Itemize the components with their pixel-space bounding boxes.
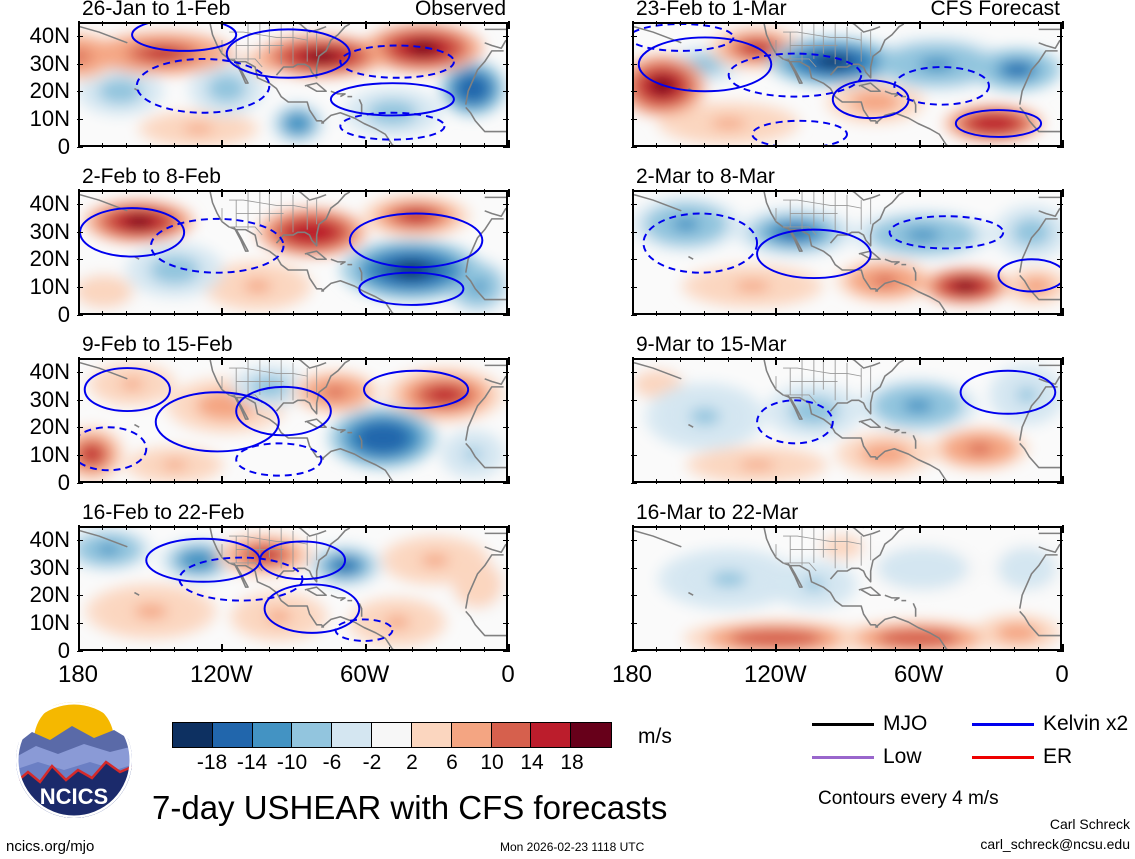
colorbar-segment [492,723,532,747]
x-tick-top [460,21,461,26]
x-tick [293,311,294,316]
x-tick-top [197,189,198,194]
x-tick [269,311,270,316]
x-tick-top [632,189,634,197]
y-tick [77,232,83,233]
x-tick-top [436,525,437,530]
x-tick [245,311,246,316]
x-tick [365,476,367,484]
x-tick [436,143,437,148]
x-tick [751,479,752,484]
colorbar-gradient [172,722,612,748]
x-tick-top [221,21,223,29]
x-tick-top [751,357,752,362]
x-tick [460,479,461,484]
colorbar-tick-label: 10 [480,751,503,775]
x-tick [1014,647,1015,652]
panel-title-fcst-4: 16-Mar to 22-Mar [636,501,798,525]
map-panel-obs-4: 16-Feb to 22-Feb [78,526,508,651]
x-tick [1038,311,1039,316]
x-tick-top [1014,21,1015,26]
x-tick-top [990,21,991,26]
y-axis-label: 0 [0,302,70,328]
map-frame-obs-2 [78,190,508,315]
legend-label: Kelvin x2 [1043,712,1128,736]
y-tick-right [503,232,509,233]
y-tick [631,232,637,233]
x-tick [150,647,151,652]
y-tick [631,400,637,401]
x-tick-top [751,189,752,194]
y-tick-right [503,372,509,373]
x-tick [293,143,294,148]
y-tick-right [503,595,509,596]
y-tick [631,623,637,624]
x-tick-top [704,21,705,26]
x-tick-top [919,525,921,533]
x-tick [990,647,991,652]
y-tick [77,287,83,288]
colorbar-tick-label: -6 [323,751,342,775]
x-tick [943,479,944,484]
x-tick-top [484,21,485,26]
x-tick [221,476,223,484]
x-tick [799,647,800,652]
x-tick-top [221,357,223,365]
y-tick [77,483,83,484]
colorbar-segment [292,723,332,747]
x-tick-top [680,357,681,362]
x-tick [126,311,127,316]
y-tick-right [1057,595,1063,596]
x-tick [174,143,175,148]
y-tick [631,427,637,428]
x-tick-top [269,21,270,26]
x-tick-top [775,21,777,29]
legend-label: Low [883,745,922,769]
x-tick [365,308,367,316]
x-tick [895,647,896,652]
x-tick-top [1014,189,1015,194]
y-tick-right [503,287,509,288]
x-tick [799,143,800,148]
x-tick-top [1062,525,1064,533]
x-tick-top [317,21,318,26]
x-tick-top [245,189,246,194]
x-tick [847,647,848,652]
x-tick-top [341,357,342,362]
colorbar-tick-label: 6 [446,751,458,775]
x-tick [460,311,461,316]
x-tick [150,143,151,148]
y-axis-label: 40N [0,191,70,217]
x-tick-top [656,21,657,26]
x-tick [150,311,151,316]
y-axis-label: 10N [0,610,70,636]
x-tick-top [728,357,729,362]
x-tick-top [895,525,896,530]
legend-line-swatch [972,756,1034,759]
x-tick-top [871,357,872,362]
x-tick [847,311,848,316]
svg-text:NCICS: NCICS [40,784,108,809]
y-tick-right [1057,36,1063,37]
panel-title-obs-3: 9-Feb to 15-Feb [82,333,233,357]
x-tick [221,644,223,652]
x-tick-top [174,21,175,26]
x-tick-top [943,357,944,362]
x-tick [221,308,223,316]
x-tick [871,311,872,316]
x-tick [1014,143,1015,148]
x-tick [799,479,800,484]
x-tick-top [680,525,681,530]
y-tick-right [503,64,509,65]
x-tick-top [150,525,151,530]
x-tick-top [919,21,921,29]
map-panel-obs-2: 2-Feb to 8-Feb [78,190,508,315]
x-tick [680,647,681,652]
x-tick-top [656,357,657,362]
shear-anomaly-field-obs-3 [80,360,506,481]
x-tick [990,479,991,484]
x-tick [102,479,103,484]
x-tick [751,311,752,316]
y-axis-label: 10N [0,106,70,132]
map-frame-fcst-1 [632,22,1062,147]
x-tick-top [728,21,729,26]
legend-label: MJO [883,712,927,736]
y-axis-label: 30N [0,387,70,413]
x-tick-top [895,189,896,194]
x-tick-top [436,21,437,26]
x-tick [943,311,944,316]
y-tick-right [1057,315,1063,316]
x-tick-top [823,189,824,194]
x-tick [895,479,896,484]
x-tick-top [412,21,413,26]
x-tick-top [150,357,151,362]
x-tick-top [871,525,872,530]
x-tick-top [751,21,752,26]
x-tick-top [823,357,824,362]
x-tick-top [484,357,485,362]
x-tick-top [847,357,848,362]
x-axis-label: 0 [1055,661,1068,689]
x-tick [1038,143,1039,148]
x-tick [775,140,777,148]
x-tick-top [632,525,634,533]
x-tick [102,143,103,148]
x-tick [412,647,413,652]
y-tick [77,623,83,624]
x-tick-top [460,525,461,530]
x-tick [775,644,777,652]
x-tick-top [632,21,634,29]
y-tick-right [1057,232,1063,233]
x-tick [484,143,485,148]
map-frame-fcst-4 [632,526,1062,651]
y-tick-right [503,315,509,316]
x-tick-top [197,21,198,26]
legend-label: ER [1043,745,1072,769]
x-tick-top [412,525,413,530]
x-tick-top [269,525,270,530]
colorbar-tick-label: 2 [406,751,418,775]
x-tick [990,143,991,148]
x-tick-top [966,525,967,530]
colorbar-segment [253,723,293,747]
x-tick-top [775,189,777,197]
y-tick-right [1057,259,1063,260]
x-axis-label: 120W [190,661,253,689]
y-tick [631,483,637,484]
x-tick [197,647,198,652]
y-tick [77,119,83,120]
x-tick [728,479,729,484]
x-tick [436,311,437,316]
x-tick [412,143,413,148]
x-tick-top [680,189,681,194]
x-tick [728,311,729,316]
y-tick [77,540,83,541]
x-tick-top [293,189,294,194]
legend-line-swatch [812,756,874,759]
x-tick [436,479,437,484]
x-tick-top [895,357,896,362]
x-tick [245,479,246,484]
column-header-right: CFS Forecast [930,0,1060,21]
y-tick [77,455,83,456]
x-tick [990,311,991,316]
y-tick-right [1057,119,1063,120]
y-tick [631,372,637,373]
y-tick-right [1057,204,1063,205]
x-tick [680,143,681,148]
x-tick-top [1062,357,1064,365]
site-url: ncics.org/mjo [6,838,94,855]
y-tick-right [503,483,509,484]
x-tick-top [78,21,80,29]
shear-anomaly-field-obs-1 [80,24,506,145]
y-tick-right [503,568,509,569]
y-axis-label: 30N [0,51,70,77]
x-tick-top [389,189,390,194]
x-tick-top [1038,21,1039,26]
x-tick [126,143,127,148]
y-tick-right [503,623,509,624]
x-tick [197,479,198,484]
x-tick-top [508,21,510,29]
y-tick-right [1057,91,1063,92]
colorbar-tick-label: -18 [197,751,227,775]
x-tick-top [508,189,510,197]
y-tick [631,651,637,652]
y-tick [77,147,83,148]
panel-title-fcst-3: 9-Mar to 15-Mar [636,333,787,357]
x-tick [919,308,921,316]
y-tick [631,91,637,92]
x-tick-top [632,357,634,365]
x-tick-top [508,357,510,365]
x-tick-top [269,357,270,362]
x-tick-top [460,357,461,362]
y-tick [77,204,83,205]
x-tick [460,143,461,148]
x-tick-top [990,189,991,194]
colorbar-segment [571,723,611,747]
y-tick [77,372,83,373]
y-axis-label: 20N [0,414,70,440]
x-tick [460,647,461,652]
shear-anomaly-field-fcst-1 [634,24,1060,145]
x-tick-top [197,357,198,362]
x-tick [484,311,485,316]
y-tick [77,568,83,569]
x-tick-top [919,189,921,197]
y-tick-right [1057,372,1063,373]
x-tick-top [704,525,705,530]
y-tick-right [1057,427,1063,428]
x-tick-top [460,189,461,194]
x-tick-top [389,357,390,362]
x-tick-top [799,189,800,194]
x-tick [150,479,151,484]
map-panel-obs-1: 26-Jan to 1-FebObserved [78,22,508,147]
x-tick-top [728,189,729,194]
author-name: Carl Schreck [880,816,1130,832]
y-axis-label: 20N [0,582,70,608]
x-axis-label: 120W [744,661,807,689]
x-tick-top [508,525,510,533]
timestamp: Mon 2026-02-23 1118 UTC [500,840,644,854]
x-tick-top [174,357,175,362]
x-axis-label: 0 [501,661,514,689]
map-panel-obs-3: 9-Feb to 15-Feb [78,358,508,483]
x-tick [895,143,896,148]
x-tick-top [269,189,270,194]
x-tick [317,311,318,316]
x-tick [102,647,103,652]
x-tick-top [293,357,294,362]
x-tick [389,311,390,316]
ncics-logo: NCICS [14,700,134,820]
x-tick-top [966,357,967,362]
x-tick [389,647,390,652]
map-panel-fcst-2: 2-Mar to 8-Mar [632,190,1062,315]
x-tick-top [78,525,80,533]
x-tick [197,311,198,316]
x-tick [966,647,967,652]
y-tick-right [1057,64,1063,65]
x-tick [365,140,367,148]
y-tick-right [503,455,509,456]
map-frame-obs-3 [78,358,508,483]
x-tick [775,476,777,484]
x-tick-top [150,21,151,26]
shear-anomaly-field-fcst-2 [634,192,1060,313]
colorbar-segment [412,723,452,747]
y-tick [631,64,637,65]
x-tick [317,479,318,484]
x-tick-top [126,189,127,194]
x-tick [389,479,390,484]
x-tick [245,647,246,652]
x-tick [966,143,967,148]
x-tick [847,143,848,148]
x-tick-top [293,21,294,26]
x-tick [126,647,127,652]
colorbar-segment [452,723,492,747]
x-tick [656,647,657,652]
y-tick [77,64,83,65]
x-tick-top [484,525,485,530]
y-tick-right [503,259,509,260]
x-tick-top [1014,357,1015,362]
x-tick [341,143,342,148]
y-tick-right [1057,623,1063,624]
y-tick [77,315,83,316]
y-axis-label: 20N [0,78,70,104]
x-tick-top [704,357,705,362]
map-frame-obs-1 [78,22,508,147]
x-tick-top [102,189,103,194]
x-tick [823,647,824,652]
y-tick-right [1057,540,1063,541]
y-tick [77,595,83,596]
y-tick-right [1057,651,1063,652]
y-tick-right [1057,455,1063,456]
x-tick [966,311,967,316]
x-tick-top [895,21,896,26]
x-tick-top [1062,21,1064,29]
y-tick-right [1057,287,1063,288]
y-axis-label: 0 [0,470,70,496]
x-tick-top [126,21,127,26]
colorbar-tick-label: -14 [237,751,267,775]
y-tick [631,119,637,120]
x-tick-top [847,525,848,530]
y-tick [77,651,83,652]
y-axis-label: 0 [0,134,70,160]
legend-line-swatch [812,723,874,726]
x-tick [680,311,681,316]
x-tick-top [1014,525,1015,530]
x-tick-top [412,357,413,362]
x-axis-label: 60W [894,661,943,689]
x-tick-top [799,21,800,26]
y-axis-label: 20N [0,246,70,272]
map-panel-fcst-4: 16-Mar to 22-Mar [632,526,1062,651]
x-tick-top [966,21,967,26]
map-panel-fcst-3: 9-Mar to 15-Mar [632,358,1062,483]
colorbar-segment [531,723,571,747]
x-tick [871,647,872,652]
x-tick-top [436,357,437,362]
y-tick-right [503,400,509,401]
column-header-left: Observed [415,0,506,21]
shear-anomaly-field-fcst-4 [634,528,1060,649]
y-axis-label: 40N [0,23,70,49]
x-tick-top [78,189,80,197]
y-tick-right [1057,400,1063,401]
x-tick [341,647,342,652]
x-tick [317,143,318,148]
x-axis-label: 60W [340,661,389,689]
x-tick [245,143,246,148]
x-tick-top [1062,189,1064,197]
figure-canvas: 40N30N20N10N026-Jan to 1-FebObserved40N3… [0,0,1135,859]
